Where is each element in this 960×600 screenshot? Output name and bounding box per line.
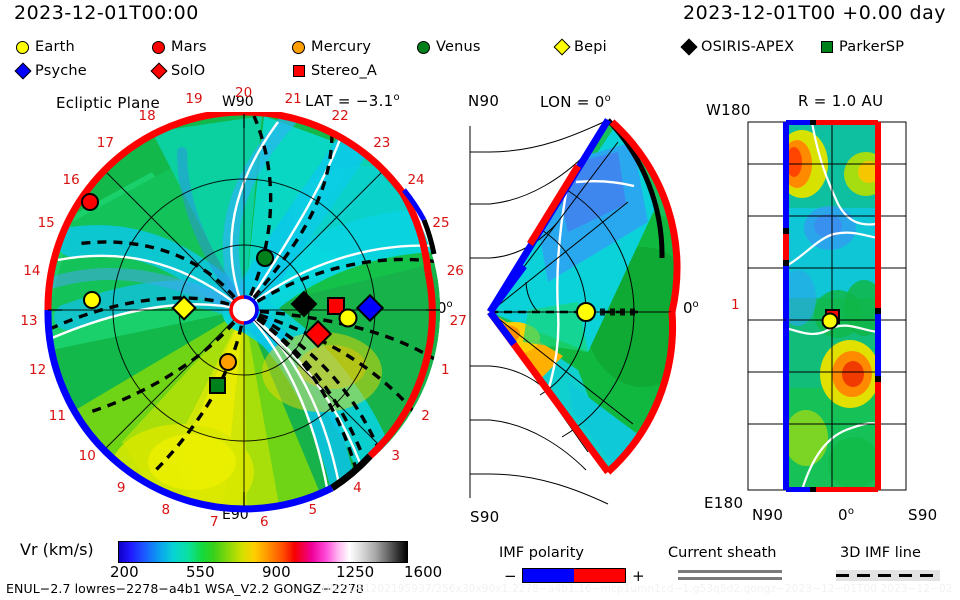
- ecliptic-day-label: 19: [185, 93, 202, 107]
- meridional-title: LON = 0o: [540, 94, 611, 110]
- colorbar-tick-label: 900: [262, 565, 291, 580]
- meridional-plot-svg: [468, 112, 696, 512]
- marker-mars[interactable]: [82, 194, 98, 210]
- venus-marker-icon: [417, 41, 430, 54]
- run-caption: ENUL−2.7 lowres−2278−a4b1 WSA_V2.2 GONGZ…: [6, 583, 364, 596]
- legend-marker-square-icon: [818, 41, 835, 53]
- rmap-vr-field: [742, 118, 912, 496]
- ecliptic-lat-label: LAT = −3.1o: [305, 93, 400, 109]
- legend-label: SolO: [171, 64, 205, 79]
- legend-marker-diamond-icon: [14, 65, 31, 77]
- ecliptic-day-label: 1: [441, 364, 450, 378]
- legend-item-psyche[interactable]: Psyche: [14, 62, 87, 80]
- ecliptic-day-label: 8: [161, 504, 170, 518]
- ecliptic-day-label: 9: [117, 482, 126, 496]
- legend-item-mars[interactable]: Mars: [150, 38, 207, 56]
- legend-marker-circle-icon: [415, 41, 432, 54]
- rmap-left-tick: 1: [731, 299, 740, 313]
- imf-polarity-bar: [522, 568, 626, 583]
- ecliptic-day-label: 26: [447, 265, 464, 279]
- legend-item-venus[interactable]: Venus: [415, 38, 481, 56]
- meridional-bottom-label: S90: [470, 510, 500, 525]
- legend-label: Psyche: [35, 64, 87, 79]
- legend-label: Mars: [171, 40, 207, 55]
- legend-item-earth[interactable]: Earth: [14, 38, 75, 56]
- ecliptic-plane-plot: 1819202122232425262712345678910111213141…: [32, 112, 442, 522]
- current-sheath-title: Current sheath: [668, 545, 777, 561]
- rmap-xlabel-s90: S90: [908, 508, 938, 523]
- ecliptic-day-label: 20: [235, 87, 252, 101]
- ecliptic-day-label: 10: [79, 450, 96, 464]
- degree-sup-icon: o: [848, 506, 854, 517]
- imf-line-title: 3D IMF line: [840, 545, 921, 561]
- rmap-xlabel-n90: N90: [752, 508, 783, 523]
- marker-parkersp[interactable]: [210, 378, 225, 393]
- ecliptic-day-label: 22: [331, 110, 348, 124]
- ecliptic-day-label: 13: [20, 315, 37, 329]
- marker-venus[interactable]: [257, 250, 273, 266]
- mars-marker-icon: [152, 41, 165, 54]
- ecliptic-day-label: 17: [97, 137, 114, 151]
- legend-marker-diamond-icon: [150, 65, 167, 77]
- ecliptic-day-label: 16: [63, 174, 80, 188]
- solar-wind-visualization: 2023-12-01T00:00 2023-12-01T00 +0.00 day…: [0, 0, 960, 600]
- ecliptic-lat-value: LAT = −3.1: [305, 92, 394, 110]
- ecliptic-day-label: 15: [38, 217, 55, 231]
- legend-label: Mercury: [311, 40, 371, 55]
- legend-item-mercury[interactable]: Mercury: [290, 38, 371, 56]
- legend-item-solo[interactable]: SolO: [150, 62, 205, 80]
- rmap-bottom-left-label: E180: [704, 496, 743, 511]
- marker-earth-rmap[interactable]: [823, 314, 838, 329]
- header-datetime-left: 2023-12-01T00:00: [14, 4, 199, 23]
- legend-item-bepi[interactable]: Bepi: [553, 38, 607, 56]
- degree-sup-icon: o: [447, 299, 453, 310]
- degree-sup-icon: o: [605, 93, 611, 104]
- legend-label: Earth: [35, 40, 75, 55]
- rmap-title: R = 1.0 AU: [798, 94, 883, 109]
- stereo-a-marker-icon: [293, 65, 305, 77]
- marker-earth-ecliptic[interactable]: [340, 310, 357, 327]
- r1au-map-plot: [742, 118, 912, 496]
- imf-polarity-title: IMF polarity: [499, 545, 584, 561]
- meridional-top-label: N90: [468, 94, 499, 109]
- legend-item-parkersp[interactable]: ParkerSP: [818, 38, 904, 56]
- rmap-svg: [742, 118, 912, 496]
- legend-marker-diamond-icon: [680, 41, 697, 53]
- degree-sup-icon: o: [394, 92, 400, 103]
- legend-item-osiris-apex[interactable]: OSIRIS-APEX: [680, 38, 794, 56]
- ecliptic-day-label: 12: [29, 364, 46, 378]
- rmap-xlabel-zero: 0o: [838, 507, 854, 523]
- colorbar-tick-label: 200: [110, 565, 139, 580]
- ecliptic-day-label: 14: [23, 265, 40, 279]
- legend-marker-circle-icon: [14, 41, 31, 54]
- ecliptic-day-label: 11: [49, 410, 66, 424]
- osiris-apex-marker-icon: [680, 39, 697, 56]
- ecliptic-day-label: 21: [285, 93, 302, 107]
- marker-earth[interactable]: [84, 292, 100, 308]
- meridional-plane-plot: [468, 112, 696, 512]
- legend-label: Venus: [436, 40, 481, 55]
- ecliptic-day-label: 3: [391, 450, 400, 464]
- imf-polarity-minus-label: −: [504, 569, 517, 584]
- earth-marker-icon: [16, 41, 29, 54]
- colorbar-tick-label: 1250: [336, 565, 374, 580]
- legend-label: Bepi: [574, 40, 607, 55]
- current-sheath-line-bottom: [678, 577, 782, 580]
- rmap-xlabel-zero-value: 0: [838, 506, 848, 524]
- marker-mercury[interactable]: [220, 354, 236, 370]
- colorbar-label: Vr (km/s): [20, 542, 94, 558]
- legend-marker-diamond-icon: [553, 41, 570, 53]
- mercury-marker-icon: [292, 41, 305, 54]
- watermark-id: UNIQUE1202195937/256x30x90x1.2278−a4b1.1…: [322, 584, 953, 595]
- rmap-top-left-label: W180: [706, 103, 751, 118]
- legend-item-stereo-a[interactable]: Stereo_A: [290, 62, 377, 80]
- ecliptic-day-label: 4: [353, 482, 362, 496]
- imf-polarity-plus-label: +: [632, 569, 645, 584]
- meridional-lon-value: LON = 0: [540, 93, 605, 111]
- ecliptic-day-label: 2: [421, 410, 430, 424]
- legend-marker-circle-icon: [290, 41, 307, 54]
- psyche-marker-icon: [14, 63, 31, 80]
- solo-marker-icon: [150, 63, 167, 80]
- current-sheath-line-top: [678, 570, 782, 573]
- ecliptic-day-label: 5: [309, 504, 318, 518]
- colorbar-tick-label: 1600: [404, 565, 442, 580]
- sun-marker: [231, 297, 257, 323]
- bepi-marker-icon: [553, 39, 570, 56]
- legend-marker-square-icon: [290, 65, 307, 77]
- marker-earth-meridional[interactable]: [577, 303, 595, 321]
- colorbar: [118, 541, 408, 563]
- ecliptic-day-label: 23: [373, 137, 390, 151]
- header-datetime-right: 2023-12-01T00 +0.00 day: [683, 4, 946, 23]
- ecliptic-day-label: 6: [260, 516, 269, 530]
- legend-marker-circle-icon: [150, 41, 167, 54]
- imf-line-sample: [836, 570, 940, 581]
- legend-label: ParkerSP: [839, 40, 904, 55]
- ecliptic-day-label: 7: [210, 516, 219, 530]
- colorbar-tick-label: 550: [186, 565, 215, 580]
- ecliptic-day-label: 24: [407, 174, 424, 188]
- parkersp-marker-icon: [821, 41, 833, 53]
- legend-label: Stereo_A: [311, 64, 377, 79]
- ecliptic-day-label: 27: [450, 315, 467, 329]
- ecliptic-day-label: 18: [139, 110, 156, 124]
- ecliptic-day-label: 25: [432, 217, 449, 231]
- legend-label: OSIRIS-APEX: [701, 40, 794, 55]
